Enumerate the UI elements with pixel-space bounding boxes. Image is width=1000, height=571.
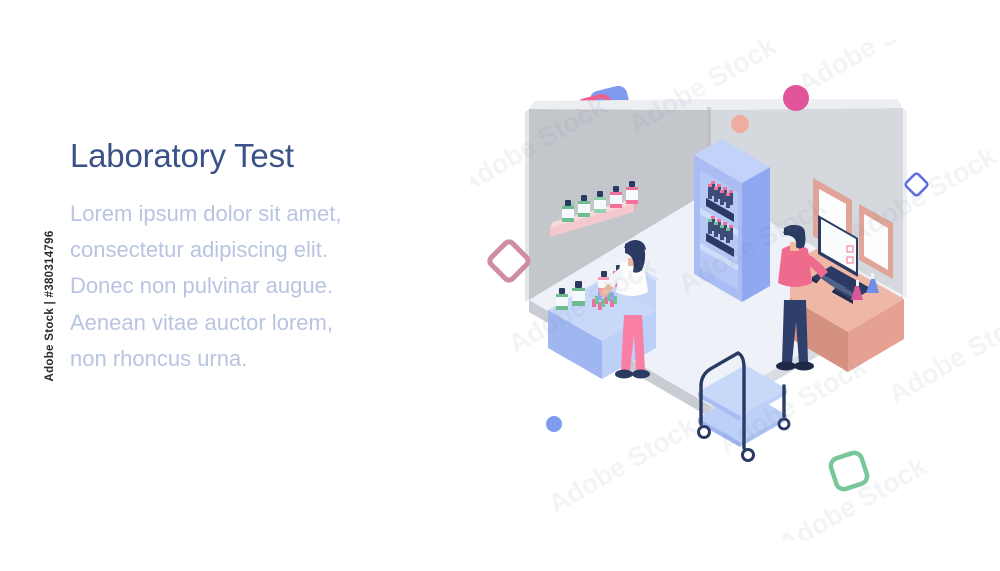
decor-green-square-outline (829, 451, 869, 491)
decor-blue-dot (546, 416, 562, 432)
storage-cabinet (694, 139, 770, 302)
decor-rose-diamond-outline (488, 240, 530, 282)
decor-blue-diamond-outline (904, 172, 928, 196)
poster-canvas: Laboratory Test Lorem ipsum dolor sit am… (0, 0, 1000, 571)
adobe-stock-watermark: Adobe Stock | #380314796 (44, 196, 56, 416)
isometric-laboratory-illustration (0, 0, 1000, 571)
decor-magenta-circle (783, 85, 809, 111)
decor-salmon-dot (731, 115, 749, 133)
